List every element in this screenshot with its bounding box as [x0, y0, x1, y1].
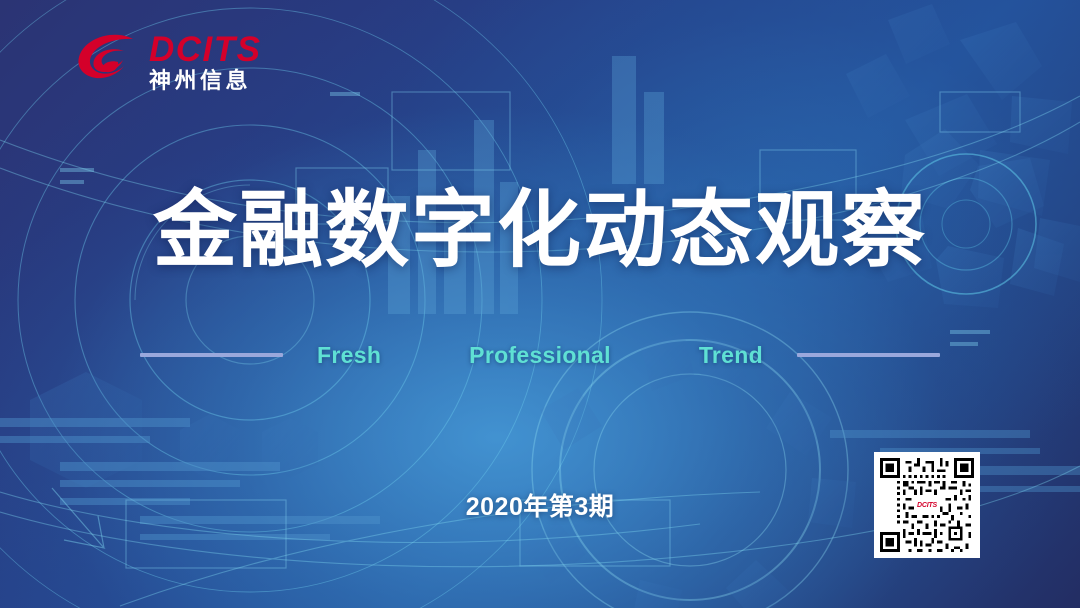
tagline-rule-right [797, 353, 940, 357]
brand-name-cn: 神州信息 [149, 70, 262, 92]
brand-logo: DCITS 神州信息 [74, 32, 262, 92]
tagline-rule-left [140, 353, 283, 357]
tagline-word-trend: Trend [699, 342, 763, 369]
brand-name-en: DCITS [149, 32, 262, 67]
tagline-word-professional: Professional [469, 342, 611, 369]
qr-center-logo: DCITS [914, 495, 940, 515]
qr-code[interactable]: DCITS [874, 452, 980, 558]
dcits-swirl-logo-icon [74, 32, 140, 92]
page-title: 金融数字化动态观察 [0, 188, 1080, 272]
poster-slide: DCITS 神州信息 金融数字化动态观察 Fresh Professional … [0, 0, 1080, 608]
tagline: Fresh Professional Trend [0, 338, 1080, 372]
tagline-word-fresh: Fresh [317, 342, 381, 369]
